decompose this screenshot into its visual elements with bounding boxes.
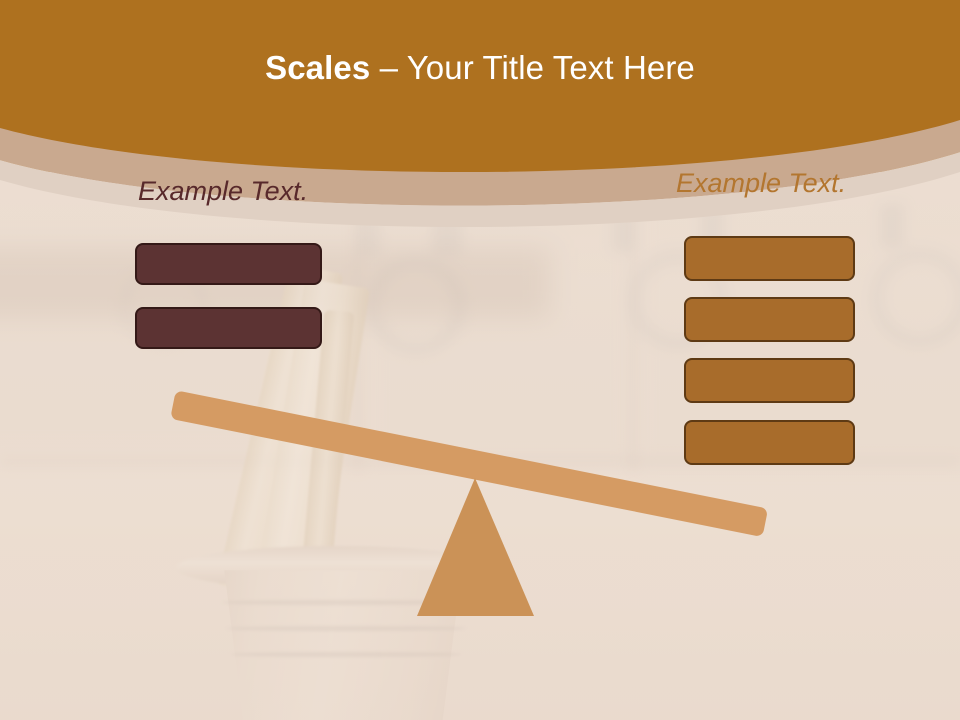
left-panel-label: Example Text. [138, 176, 308, 207]
right-bar-3[interactable] [684, 358, 855, 403]
left-bar-1[interactable] [135, 243, 322, 285]
left-bar-2[interactable] [135, 307, 322, 349]
slide-title-separator: – [370, 49, 406, 86]
right-bar-4[interactable] [684, 420, 855, 465]
presentation-slide: Scales – Your Title Text Here Example Te… [0, 0, 960, 720]
slide-title: Scales – Your Title Text Here [0, 48, 960, 88]
right-panel-label: Example Text. [676, 168, 846, 199]
right-bar-1[interactable] [684, 236, 855, 281]
slide-title-rest: Your Title Text Here [407, 49, 695, 86]
slide-title-bold: Scales [265, 49, 370, 86]
scale-fulcrum-triangle [417, 478, 534, 616]
right-bar-2[interactable] [684, 297, 855, 342]
